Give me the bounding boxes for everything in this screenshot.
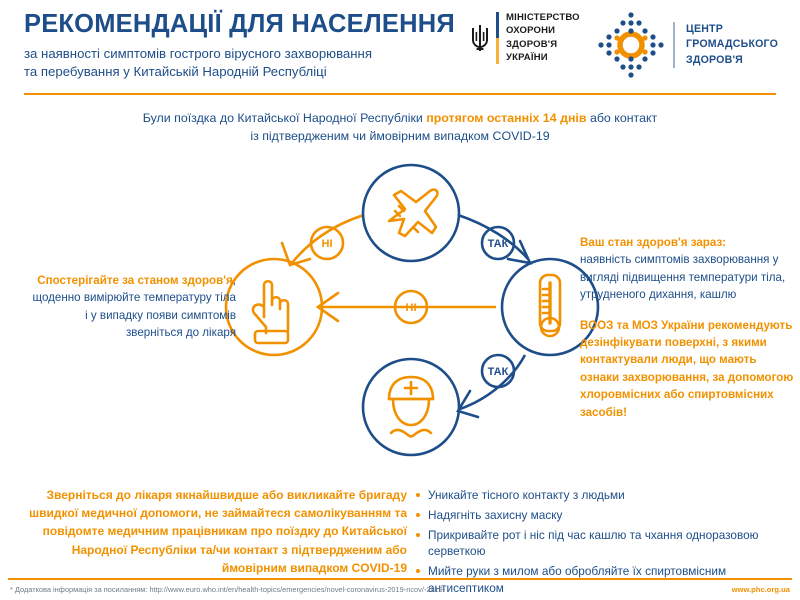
- cph-line-3: ЗДОРОВ'Я: [686, 53, 778, 68]
- page-subtitle: за наявності симптомів гострого вірусног…: [24, 45, 464, 80]
- moz-line-2: ОХОРОНИ: [506, 24, 580, 37]
- flow-node-plane: [363, 165, 459, 261]
- cph-logo: ЦЕНТР ГРОМАДСЬКОГО ЗДОРОВ'Я: [595, 9, 778, 81]
- flow-diagram: .bl{stroke:#1d4e89;fill:none;stroke-widt…: [220, 155, 600, 495]
- intro-text: Були поїздка до Китайської Народної Респ…: [100, 110, 700, 146]
- footer-divider: [8, 578, 792, 580]
- left-advice-text: Спостерігайте за станом здоров'я, щоденн…: [28, 272, 236, 342]
- intro-highlight: протягом останніх 14 днів: [426, 111, 586, 125]
- moz-line-3: ЗДОРОВ'Я: [506, 38, 580, 51]
- infographic-page: РЕКОМЕНДАЦІЇ ДЛЯ НАСЕЛЕННЯ за наявності …: [0, 0, 800, 600]
- subtitle-line-1: за наявності симптомів гострого вірусног…: [24, 45, 464, 63]
- list-item: Уникайте тісного контакту з людьми: [415, 487, 795, 504]
- badge-no-thermometer-label: НІ: [406, 302, 417, 314]
- bottom-left-callout: Зверніться до лікаря якнайшвидше або вик…: [22, 486, 407, 577]
- moz-logo-text: МІНІСТЕРСТВО ОХОРОНИ ЗДОРОВ'Я УКРАЇНИ: [506, 11, 580, 65]
- moz-line-4: УКРАЇНИ: [506, 51, 580, 64]
- title-block: РЕКОМЕНДАЦІЇ ДЛЯ НАСЕЛЕННЯ за наявності …: [24, 10, 464, 80]
- flow-badge-yes-thermometer: ТАК: [482, 355, 514, 387]
- badge-yes-thermometer-label: ТАК: [488, 366, 509, 378]
- right-advice-body: наявність симптомів захворювання у вигля…: [580, 251, 798, 303]
- badge-yes-plane-label: ТАК: [488, 238, 509, 250]
- flow-node-doctor: [363, 359, 459, 455]
- page-title: РЕКОМЕНДАЦІЇ ДЛЯ НАСЕЛЕННЯ: [24, 10, 464, 38]
- ukraine-trident-icon: [470, 24, 490, 52]
- left-advice-highlight: Спостерігайте за станом здоров'я: [37, 274, 233, 287]
- footer-note: * Додаткова інформація за посиланням: ht…: [10, 585, 445, 594]
- right-advice-block-2: ВООЗ та МОЗ України рекомендують дезінфі…: [580, 317, 798, 421]
- list-item: Прикривайте рот і ніс під час кашлю та ч…: [415, 527, 795, 561]
- logos: МІНІСТЕРСТВО ОХОРОНИ ЗДОРОВ'Я УКРАЇНИ: [470, 9, 790, 81]
- moz-logo: МІНІСТЕРСТВО ОХОРОНИ ЗДОРОВ'Я УКРАЇНИ: [470, 11, 580, 65]
- header-divider: [24, 93, 776, 95]
- list-item: Надягніть захисну маску: [415, 507, 795, 524]
- header: РЕКОМЕНДАЦІЇ ДЛЯ НАСЕЛЕННЯ за наявності …: [0, 0, 800, 95]
- intro-part-1: Були поїздка до Китайської Народної Респ…: [143, 111, 426, 125]
- right-advice-heading: Ваш стан здоров'я зараз:: [580, 234, 798, 251]
- cph-divider: [673, 22, 675, 68]
- flow-node-hand: [226, 259, 322, 355]
- subtitle-line-2: та перебування у Китайській Народній Рес…: [24, 63, 464, 81]
- cph-logo-text: ЦЕНТР ГРОМАДСЬКОГО ЗДОРОВ'Я: [686, 22, 778, 68]
- public-health-center-dots-icon: [595, 9, 667, 81]
- moz-line-1: МІНІСТЕРСТВО: [506, 11, 580, 24]
- cph-line-2: ГРОМАДСЬКОГО: [686, 37, 778, 52]
- intro-part-2: або контакт: [587, 111, 658, 125]
- intro-line-2: із підтвердженим чи ймовірним випадком C…: [250, 129, 549, 143]
- prevention-bullet-list: Уникайте тісного контакту з людьми Надяг…: [415, 487, 795, 600]
- footer-website-link[interactable]: www.phc.org.ua: [732, 585, 790, 594]
- right-advice-text: Ваш стан здоров'я зараз: наявність симпт…: [580, 234, 798, 421]
- moz-divider: [496, 12, 499, 64]
- badge-no-plane-label: НІ: [322, 238, 333, 250]
- cph-line-1: ЦЕНТР: [686, 22, 778, 37]
